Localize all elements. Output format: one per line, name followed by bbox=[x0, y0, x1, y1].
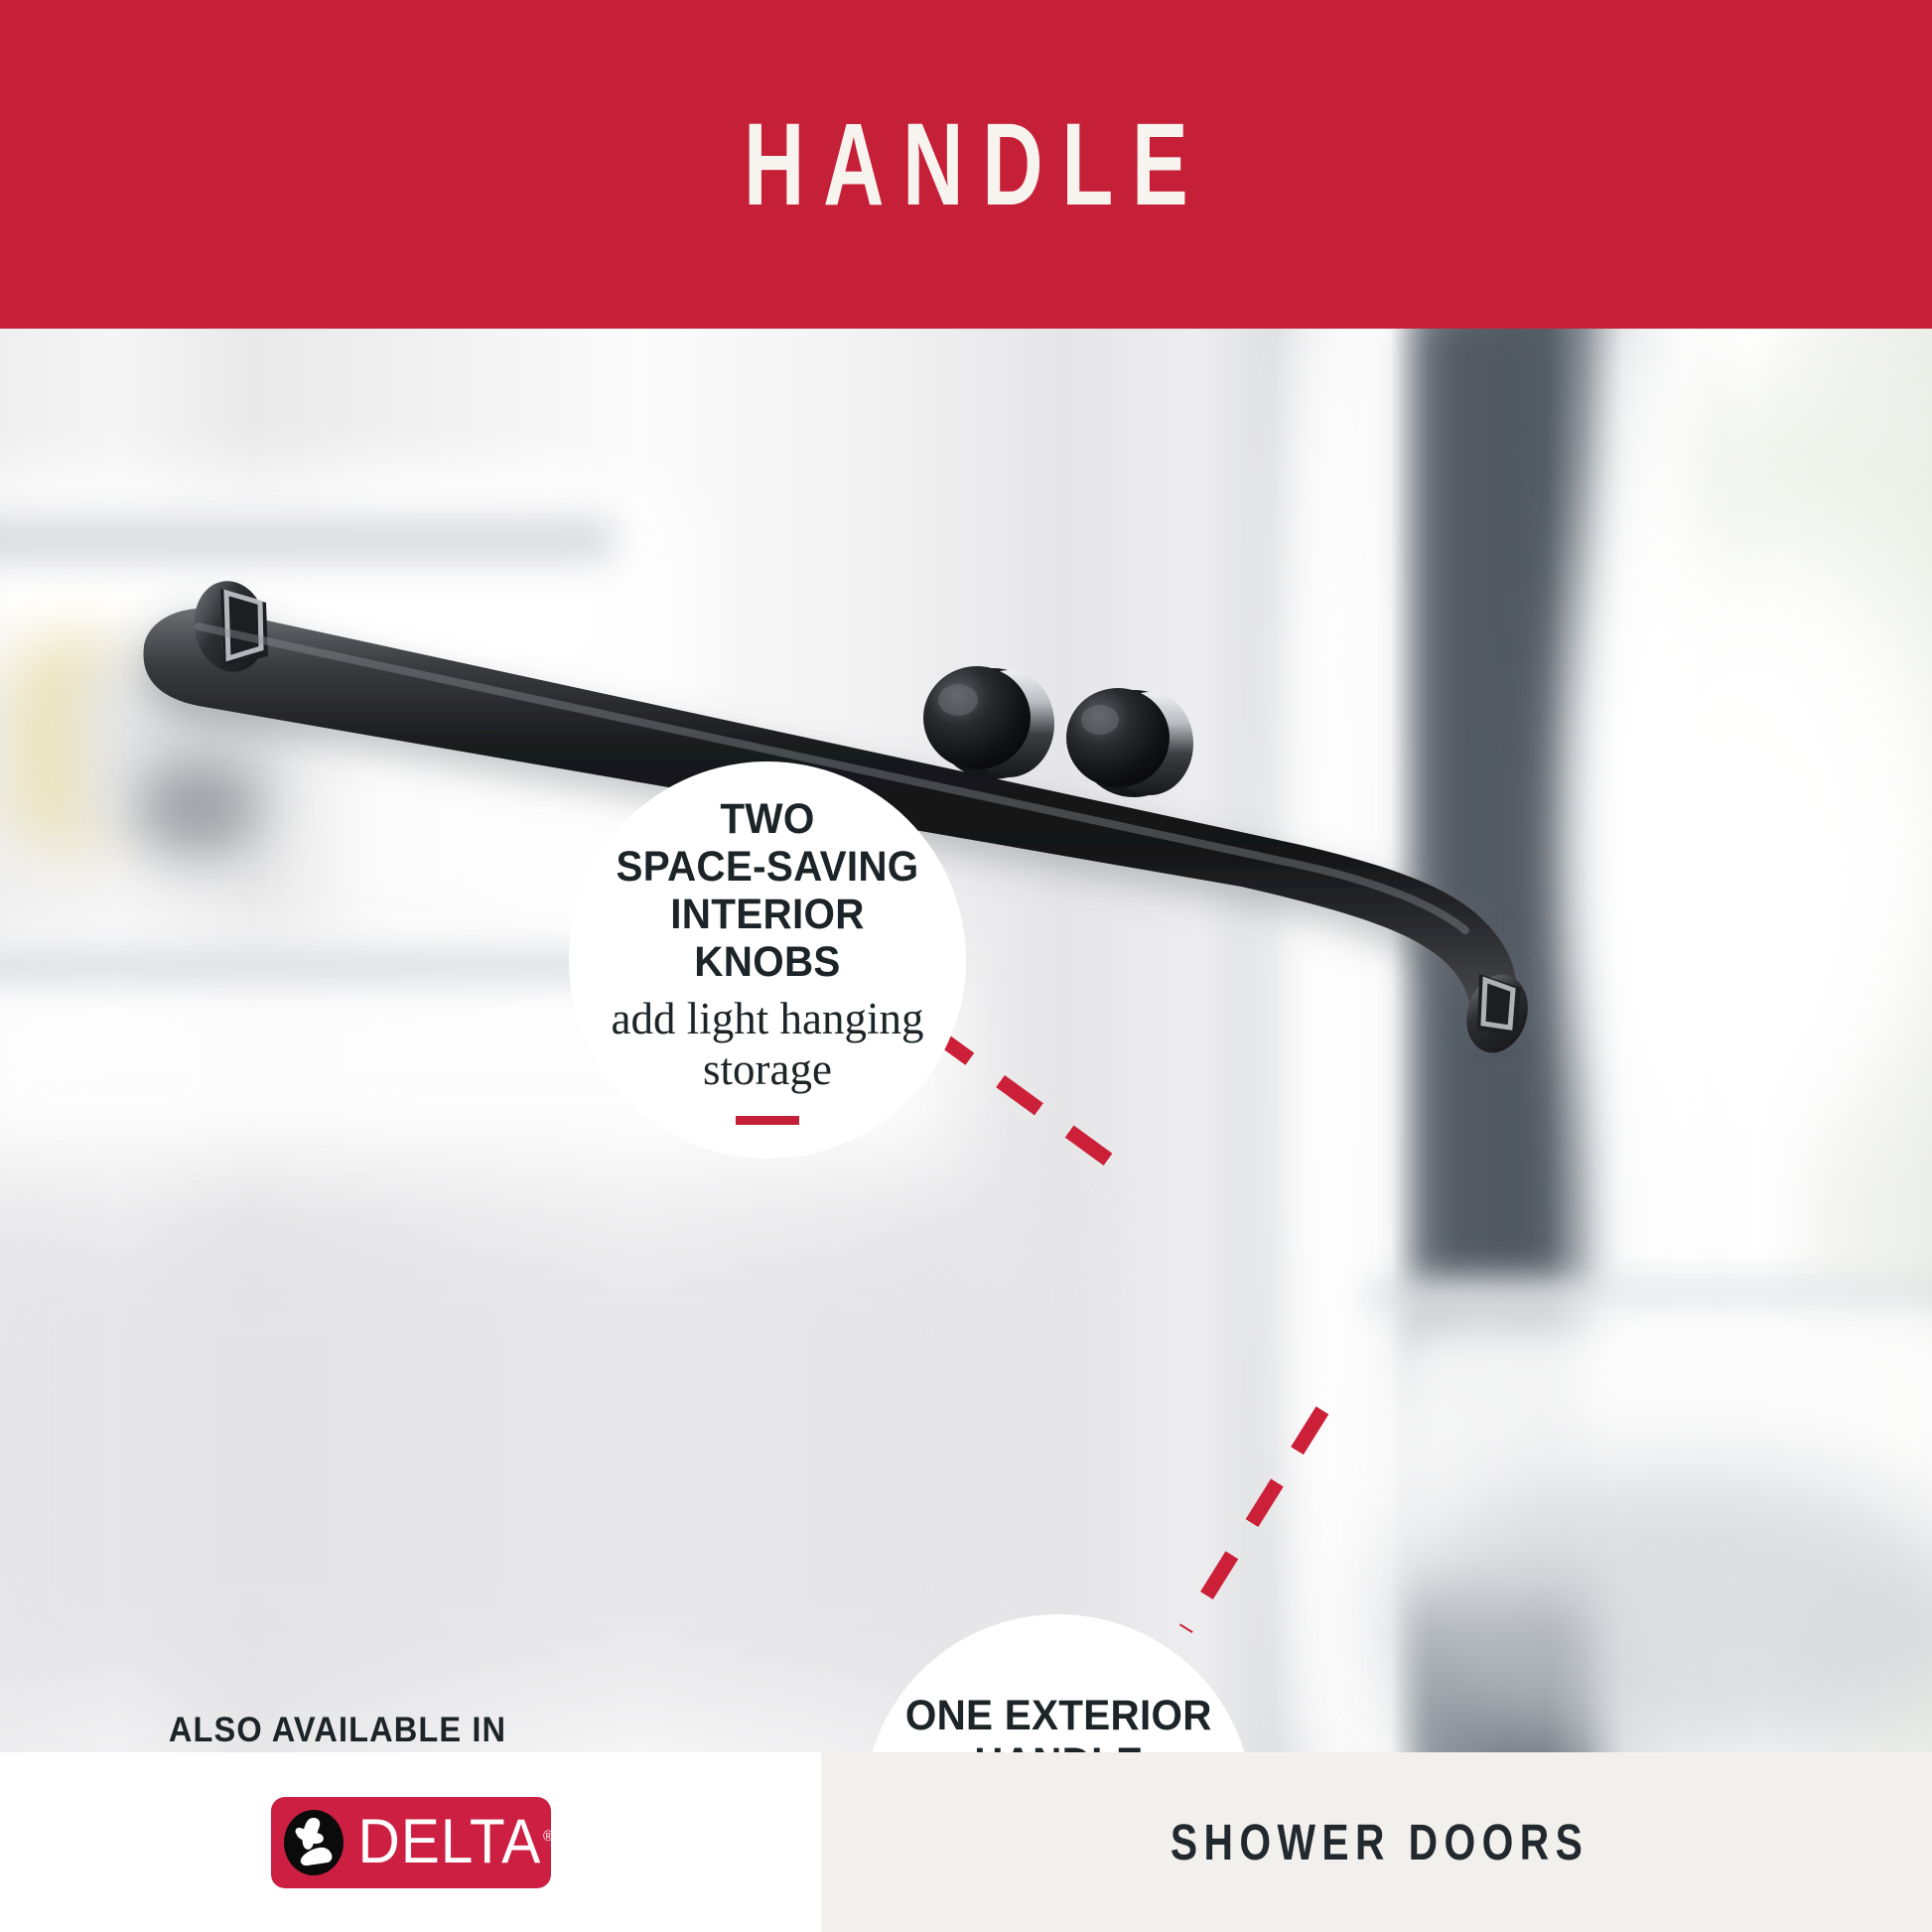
delta-logo[interactable]: DELTA® bbox=[271, 1797, 551, 1888]
callout-subline-line-1: add light hanging bbox=[612, 994, 924, 1043]
background-blur-shelf bbox=[0, 478, 596, 676]
handle-right-mount bbox=[1477, 974, 1521, 1035]
background-blur-glass-highlight bbox=[1276, 329, 1365, 1752]
handle-right-endcap bbox=[1457, 967, 1537, 1059]
poster-canvas: HANDLE bbox=[0, 0, 1932, 1932]
callout-headline-line-2: HANDLE bbox=[905, 1739, 1212, 1752]
handle-right-mount-ring bbox=[1483, 980, 1513, 1028]
callout-exterior-handle-headline: ONE EXTERIOR HANDLE bbox=[905, 1692, 1212, 1752]
callout-interior-knobs-subline: add light hanging storage bbox=[612, 994, 924, 1094]
callout-headline-line-1: ONE EXTERIOR bbox=[905, 1692, 1212, 1739]
footer-brand-area: DELTA® bbox=[0, 1752, 821, 1932]
callout-exterior-handle: ONE EXTERIOR HANDLE adds extra towel sto… bbox=[864, 1614, 1253, 1752]
background-blur-bottle-amber bbox=[10, 636, 129, 845]
finishes-title: ALSO AVAILABLE IN bbox=[144, 1711, 532, 1750]
callout-headline-line-1: TWO bbox=[605, 795, 929, 843]
callout-headline-line-2: SPACE-SAVING bbox=[605, 843, 929, 891]
header-banner: HANDLE bbox=[0, 0, 1932, 329]
handle-left-endcap bbox=[188, 575, 274, 677]
callout-subline-line-2: storage bbox=[612, 1044, 924, 1094]
background-blur-door-frame bbox=[1422, 329, 1551, 1401]
background-blur-lower-wall bbox=[0, 1202, 1013, 1719]
handle-illustration bbox=[0, 329, 1932, 1752]
interior-knob-1 bbox=[923, 666, 1054, 779]
handle-left-mount-ring bbox=[226, 593, 261, 658]
connector-dashed-handle bbox=[1179, 1407, 1328, 1633]
page-title: HANDLE bbox=[725, 106, 1206, 223]
background-blur-tub bbox=[1370, 1302, 1932, 1599]
background-blur-right-light bbox=[1549, 527, 1932, 1143]
background-blur-glass-highlight-right bbox=[1588, 329, 1708, 1752]
background-blur-shelf-edge bbox=[0, 523, 616, 557]
callout-interior-knobs-headline: TWO SPACE-SAVING INTERIOR KNOBS bbox=[605, 795, 929, 987]
product-photo: TWO SPACE-SAVING INTERIOR KNOBS add ligh… bbox=[0, 329, 1932, 1752]
footer: DELTA® SHOWER DOORS bbox=[0, 1752, 1932, 1932]
background-blur-bottle-white bbox=[79, 656, 189, 845]
connector-dashed-knobs bbox=[927, 1025, 1119, 1170]
finishes-section: ALSO AVAILABLE IN CHROME BRUSHED NICKEL bbox=[129, 1711, 546, 1752]
handle-left-mount bbox=[220, 589, 268, 666]
background-blur-bottle-gray bbox=[149, 617, 268, 835]
delta-triangle-icon bbox=[283, 1809, 345, 1876]
background-blur-window-glow bbox=[1628, 388, 1932, 805]
background-blur-tub-shadow bbox=[1390, 1470, 1932, 1752]
footer-category-label: SHOWER DOORS bbox=[1165, 1813, 1589, 1871]
registered-trademark-icon: ® bbox=[543, 1828, 554, 1845]
background-blur-bottle-cap bbox=[139, 765, 258, 855]
callout-accent-rule bbox=[736, 1116, 799, 1125]
interior-knob-2 bbox=[1066, 688, 1193, 797]
callout-headline-line-3: INTERIOR KNOBS bbox=[605, 891, 929, 986]
delta-wordmark-text: DELTA bbox=[357, 1807, 541, 1876]
delta-wordmark: DELTA® bbox=[357, 1811, 554, 1873]
footer-category-area: SHOWER DOORS bbox=[821, 1752, 1932, 1932]
background-blur-tub-edge bbox=[1370, 1282, 1932, 1315]
background-blur-door-frame-lower bbox=[1420, 1302, 1539, 1752]
callout-interior-knobs: TWO SPACE-SAVING INTERIOR KNOBS add ligh… bbox=[569, 761, 966, 1159]
